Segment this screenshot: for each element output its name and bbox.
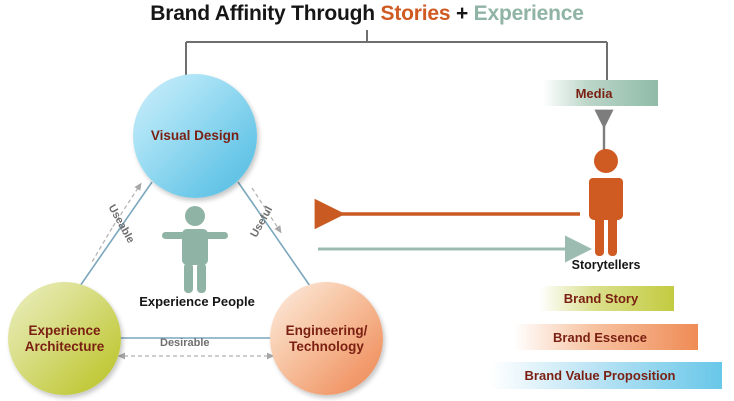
node-experience-architecture-label: Experience Architecture (25, 323, 105, 355)
storytellers-label: Storytellers (536, 258, 676, 272)
diagram-canvas: Brand Affinity Through Stories + Experie… (0, 0, 734, 401)
experience-people-label: Experience People (122, 294, 272, 309)
bar-media-label: Media (576, 86, 613, 101)
bar-brand-story-label: Brand Story (564, 291, 638, 306)
et-line-2: Technology (289, 339, 364, 354)
ea-line-1: Experience (28, 323, 100, 338)
node-engineering-technology[interactable]: Engineering/ Technology (270, 282, 383, 395)
bar-brand-value-proposition[interactable]: Brand Value Proposition (478, 362, 722, 389)
bar-brand-story[interactable]: Brand Story (528, 286, 674, 311)
node-visual-design-label: Visual Design (151, 128, 239, 144)
bar-brand-value-proposition-label: Brand Value Proposition (525, 368, 676, 383)
bar-brand-essence[interactable]: Brand Essence (502, 324, 698, 350)
bar-brand-essence-label: Brand Essence (553, 330, 647, 345)
node-visual-design[interactable]: Visual Design (133, 74, 257, 198)
ea-line-2: Architecture (25, 339, 105, 354)
title-bracket (186, 30, 607, 80)
experience-people-icon (160, 205, 230, 295)
node-engineering-technology-label: Engineering/ Technology (286, 323, 368, 355)
bar-media[interactable]: Media (530, 80, 658, 106)
edge-label-desirable: Desirable (160, 337, 210, 349)
node-experience-architecture[interactable]: Experience Architecture (8, 282, 121, 395)
storyteller-icon (576, 148, 636, 258)
et-line-1: Engineering/ (286, 323, 368, 338)
